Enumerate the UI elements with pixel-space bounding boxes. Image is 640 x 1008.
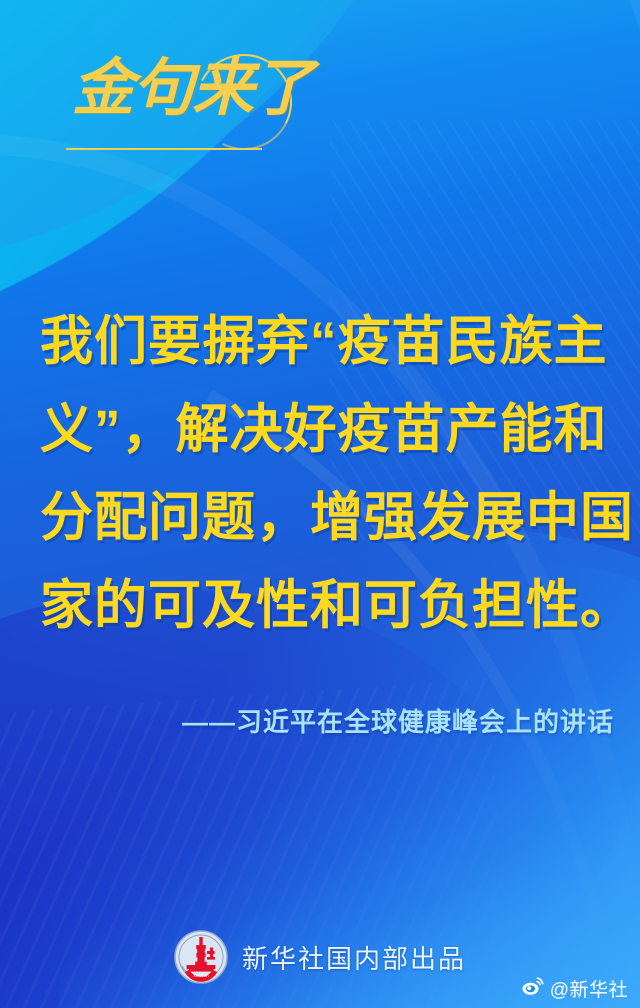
quote-line-3: 分配问题，增强发展中国 [40, 474, 606, 562]
quote-line-4: 家的可及性和可负担性。 [40, 562, 606, 650]
quote-line-2: 义”，解决好疫苗产能和 [40, 386, 606, 474]
weibo-watermark: @新华社 [521, 975, 628, 1002]
footer-producer-text: 新华社国内部出品 [242, 939, 466, 976]
quote-line-1: 我们要摒弃“疫苗民族主 [40, 298, 606, 386]
poster-canvas: 金句来了 我们要摒弃“疫苗民族主 义”，解决好疫苗产能和 分配问题，增强发展中国… [0, 0, 640, 1008]
quote-attribution: ——习近平在全球健康峰会上的讲话 [0, 702, 614, 739]
series-logo-text: 金句来了 [72, 58, 312, 120]
svg-text:XINHUA: XINHUA [193, 973, 209, 978]
quote-block: 我们要摒弃“疫苗民族主 义”，解决好疫苗产能和 分配问题，增强发展中国 家的可及… [40, 298, 606, 650]
series-logo-underline [66, 148, 262, 150]
xinhua-news-agency-emblem-icon: XINHUA [174, 930, 228, 984]
weibo-icon [521, 976, 545, 1001]
series-logo: 金句来了 [62, 52, 292, 170]
weibo-handle-text: @新华社 [550, 975, 628, 1002]
